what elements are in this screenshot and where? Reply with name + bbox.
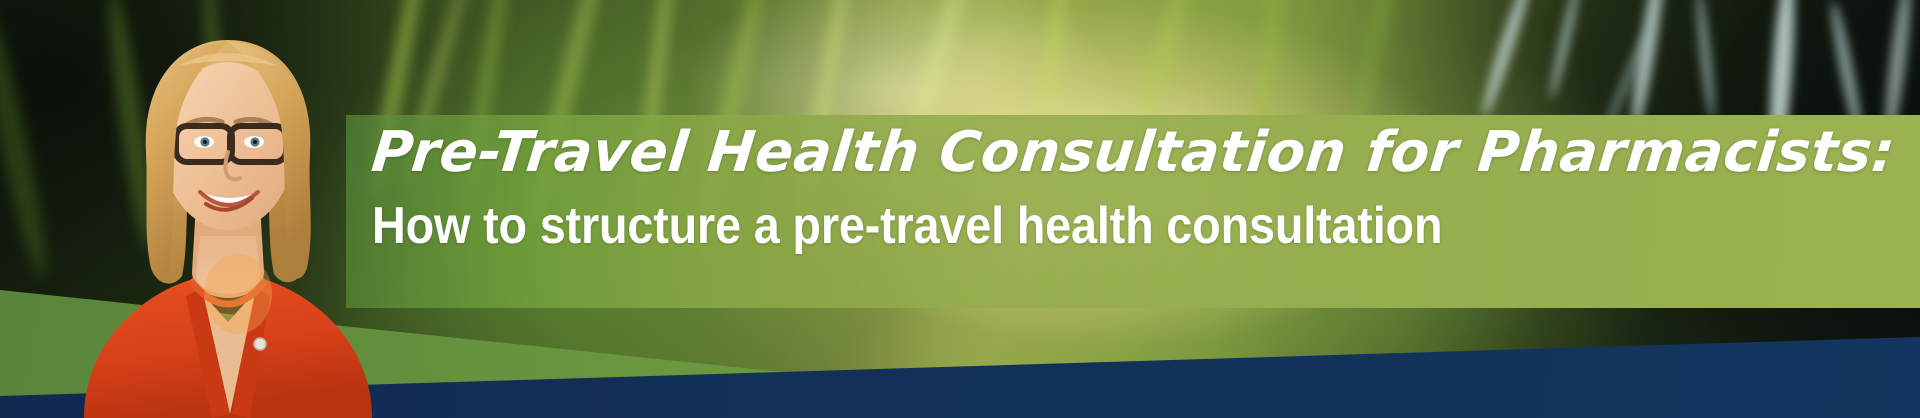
presenter-portrait bbox=[60, 26, 400, 418]
pupil-right bbox=[253, 140, 257, 144]
title-text-stack: Pre-Travel Health Consultation for Pharm… bbox=[372, 118, 1892, 256]
banner-root: Pre-Travel Health Consultation for Pharm… bbox=[0, 0, 1920, 418]
neck-warm-light bbox=[204, 254, 272, 334]
page-subtitle: How to structure a pre-travel health con… bbox=[372, 196, 1740, 256]
cardigan-button bbox=[254, 338, 266, 350]
pupil-left bbox=[203, 140, 207, 144]
page-title: Pre-Travel Health Consultation for Pharm… bbox=[368, 118, 1895, 188]
